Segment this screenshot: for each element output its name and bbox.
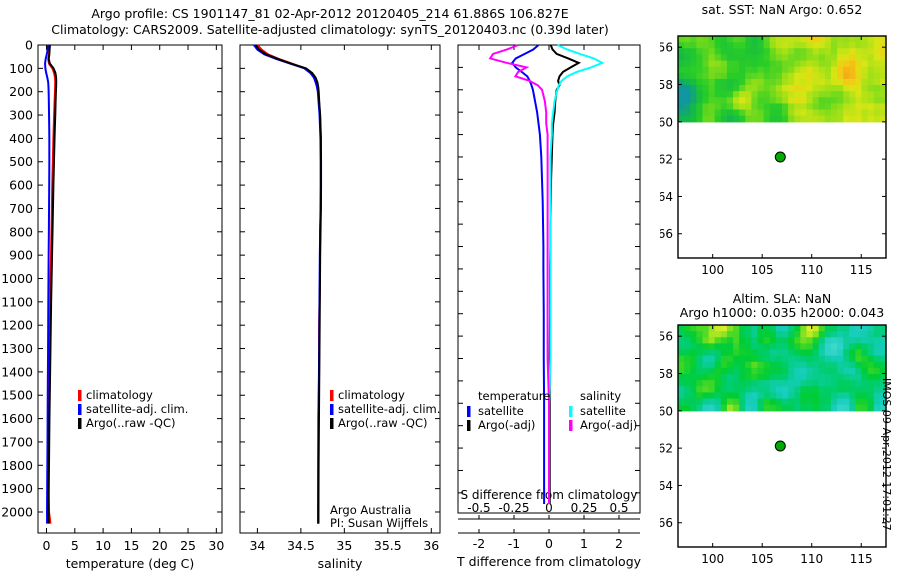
heatmap-cell <box>715 103 722 110</box>
heatmap-cell <box>868 399 875 406</box>
heatmap-cell <box>709 48 716 55</box>
heatmap-cell <box>800 36 807 43</box>
heatmap-cell <box>751 61 758 68</box>
heatmap-cell <box>849 36 856 43</box>
heatmap-cell <box>782 325 789 332</box>
heatmap-cell <box>837 91 844 98</box>
heatmap-cell <box>819 399 826 406</box>
heatmap-cell <box>758 61 765 68</box>
heatmap-cell <box>733 36 740 43</box>
heatmap-cell <box>678 91 685 98</box>
heatmap-cell <box>794 91 801 98</box>
heatmap-cell <box>696 399 703 406</box>
heatmap-cell <box>715 110 722 117</box>
heatmap-cell <box>690 85 697 92</box>
heatmap-cell <box>800 368 807 375</box>
heatmap-cell <box>709 386 716 393</box>
heatmap-cell <box>715 374 722 381</box>
heatmap-cell <box>733 103 740 110</box>
heatmap-cell <box>727 36 734 43</box>
heatmap-cell <box>831 73 838 80</box>
heatmap-cell <box>776 116 783 123</box>
heatmap-cell <box>788 73 795 80</box>
heatmap-cell <box>776 380 783 387</box>
t-tick-label: -1 <box>508 536 520 551</box>
heatmap-cell <box>800 343 807 350</box>
heatmap-cell <box>739 61 746 68</box>
heatmap-cell <box>837 392 844 399</box>
heatmap-cell <box>868 110 875 117</box>
heatmap-cell <box>751 343 758 350</box>
heatmap-cell <box>715 325 722 332</box>
heatmap-cell <box>776 54 783 61</box>
y-tick-label: 100 <box>9 61 33 76</box>
heatmap-cell <box>727 91 734 98</box>
heatmap-cell <box>721 67 728 74</box>
heatmap-cell <box>696 42 703 49</box>
heatmap-cell <box>813 91 820 98</box>
heatmap-cell <box>764 392 771 399</box>
heatmap-cell <box>849 368 856 375</box>
heatmap-cell <box>690 73 697 80</box>
heatmap-cell <box>758 380 765 387</box>
heatmap-cell <box>806 42 813 49</box>
heatmap-cell <box>758 343 765 350</box>
heatmap-cell <box>721 337 728 344</box>
heatmap-cell <box>696 380 703 387</box>
heatmap-cell <box>709 97 716 104</box>
heatmap-cell <box>800 110 807 117</box>
heatmap-cell <box>727 392 734 399</box>
heatmap-cell <box>696 110 703 117</box>
heatmap-cell <box>721 116 728 123</box>
heatmap-cell <box>739 97 746 104</box>
heatmap-cell <box>758 48 765 55</box>
heatmap-cell <box>825 48 832 55</box>
heatmap-cell <box>776 368 783 375</box>
heatmap-cell <box>855 73 862 80</box>
heatmap-cell <box>696 91 703 98</box>
heatmap-cell <box>696 61 703 68</box>
heatmap-cell <box>788 61 795 68</box>
heatmap-cell <box>862 67 869 74</box>
heatmap-cell <box>733 73 740 80</box>
heatmap-cell <box>813 103 820 110</box>
heatmap-cell <box>794 54 801 61</box>
heatmap-cell <box>843 405 850 412</box>
legend-swatch <box>330 390 334 401</box>
heatmap-cell <box>702 103 709 110</box>
heatmap-cell <box>849 54 856 61</box>
heatmap-cell <box>819 405 826 412</box>
heatmap-cell <box>745 356 752 363</box>
heatmap-cell <box>843 350 850 357</box>
heatmap-cell <box>794 350 801 357</box>
heatmap-cell <box>733 91 740 98</box>
heatmap-cell <box>690 36 697 43</box>
map-x-tick-label: 110 <box>800 552 823 566</box>
heatmap-cell <box>776 343 783 350</box>
y-tick-label: 0 <box>25 38 33 53</box>
heatmap-cell <box>696 97 703 104</box>
heatmap-cell <box>727 362 734 369</box>
heatmap-cell <box>770 110 777 117</box>
profile-location-marker <box>775 441 785 451</box>
heatmap-cell <box>745 36 752 43</box>
heatmap-cell <box>739 362 746 369</box>
heatmap-cell <box>733 392 740 399</box>
heatmap-cell <box>721 362 728 369</box>
heatmap-cell <box>794 79 801 86</box>
heatmap-cell <box>727 116 734 123</box>
heatmap-cell <box>678 386 685 393</box>
heatmap-cell <box>715 392 722 399</box>
heatmap-cell <box>843 36 850 43</box>
heatmap-cell <box>684 61 691 68</box>
heatmap-cell <box>770 399 777 406</box>
heatmap-cell <box>776 386 783 393</box>
heatmap-cell <box>831 405 838 412</box>
heatmap-cell <box>849 48 856 55</box>
heatmap-cell <box>770 91 777 98</box>
map-y-tick-label: -56 <box>660 330 673 344</box>
heatmap-cell <box>678 36 685 43</box>
y-tick-label: 400 <box>9 131 33 146</box>
heatmap-cell <box>684 356 691 363</box>
heatmap-cell <box>770 343 777 350</box>
heatmap-cells <box>678 36 887 122</box>
heatmap-cell <box>843 399 850 406</box>
heatmap-cell <box>696 374 703 381</box>
heatmap-cell <box>794 110 801 117</box>
heatmap-cell <box>806 380 813 387</box>
heatmap-cell <box>813 110 820 117</box>
map-x-tick-label: 115 <box>850 552 873 566</box>
heatmap-cell <box>855 337 862 344</box>
heatmap-cell <box>831 67 838 74</box>
heatmap-cell <box>709 103 716 110</box>
heatmap-cell <box>709 405 716 412</box>
heatmap-cell <box>764 374 771 381</box>
heatmap-cell <box>849 350 856 357</box>
heatmap-cell <box>843 368 850 375</box>
heatmap-cell <box>678 325 685 332</box>
heatmap-cell <box>739 386 746 393</box>
heatmap-cell <box>733 110 740 117</box>
heatmap-cell <box>800 116 807 123</box>
heatmap-cell <box>788 343 795 350</box>
map-x-tick-label: 100 <box>701 263 724 277</box>
heatmap-cell <box>709 54 716 61</box>
heatmap-cell <box>825 79 832 86</box>
heatmap-cell <box>709 350 716 357</box>
heatmap-cell <box>837 48 844 55</box>
heatmap-cell <box>868 97 875 104</box>
legend-label: Argo(..raw -QC) <box>338 416 428 430</box>
heatmap-cell <box>849 380 856 387</box>
heatmap-cell <box>855 405 862 412</box>
heatmap-cell <box>819 362 826 369</box>
heatmap-cell <box>794 392 801 399</box>
heatmap-cell <box>843 48 850 55</box>
heatmap-cell <box>758 79 765 86</box>
heatmap-cell <box>739 374 746 381</box>
heatmap-cell <box>709 116 716 123</box>
heatmap-cell <box>745 73 752 80</box>
heatmap-cell <box>776 350 783 357</box>
heatmap-cell <box>758 103 765 110</box>
heatmap-cell <box>745 61 752 68</box>
heatmap-cell <box>745 48 752 55</box>
heatmap-cell <box>868 356 875 363</box>
heatmap-cell <box>715 42 722 49</box>
heatmap-cell <box>715 48 722 55</box>
diff-series-1 <box>512 45 544 504</box>
heatmap-cell <box>868 103 875 110</box>
heatmap-cell <box>794 380 801 387</box>
heatmap-cell <box>849 343 856 350</box>
heatmap-cell <box>819 374 826 381</box>
heatmap-cell <box>684 331 691 338</box>
heatmap-cell <box>776 48 783 55</box>
heatmap-cell <box>794 368 801 375</box>
heatmap-cell <box>849 42 856 49</box>
heatmap-cell <box>715 337 722 344</box>
heatmap-cell <box>843 97 850 104</box>
heatmap-cell <box>837 337 844 344</box>
heatmap-cell <box>696 325 703 332</box>
heatmap-cell <box>794 67 801 74</box>
heatmap-cell <box>794 386 801 393</box>
heatmap-cell <box>739 380 746 387</box>
heatmap-cell <box>690 368 697 375</box>
heatmap-cell <box>782 356 789 363</box>
heatmap-cell <box>709 337 716 344</box>
t-tick-label: 1 <box>580 536 588 551</box>
x-tick-label: 15 <box>123 538 139 553</box>
heatmap-cell <box>819 67 826 74</box>
heatmap-cell <box>690 386 697 393</box>
y-tick-label: 1800 <box>1 458 33 473</box>
heatmap-cell <box>806 67 813 74</box>
heatmap-cell <box>806 368 813 375</box>
heatmap-cell <box>837 42 844 49</box>
heatmap-cell <box>849 392 856 399</box>
heatmap-cell <box>739 85 746 92</box>
map-x-tick-label: 115 <box>850 263 873 277</box>
heatmap-cell <box>813 42 820 49</box>
heatmap-cell <box>721 110 728 117</box>
heatmap-cell <box>874 73 881 80</box>
heatmap-cell <box>745 79 752 86</box>
heatmap-cell <box>855 42 862 49</box>
heatmap-cell <box>831 392 838 399</box>
heatmap-cell <box>702 91 709 98</box>
s-tick-label: 0.5 <box>609 501 628 515</box>
heatmap-cell <box>696 116 703 123</box>
series-line-3 <box>256 45 321 524</box>
heatmap-cell <box>831 374 838 381</box>
credit-line-2: PI: Susan Wijffels <box>330 516 428 530</box>
heatmap-cell <box>702 356 709 363</box>
heatmap-cell <box>758 356 765 363</box>
heatmap-cell <box>788 67 795 74</box>
heatmap-cell <box>800 48 807 55</box>
heatmap-cell <box>709 36 716 43</box>
heatmap-cell <box>849 399 856 406</box>
heatmap-cell <box>727 380 734 387</box>
heatmap-cell <box>739 42 746 49</box>
heatmap-cell <box>751 73 758 80</box>
heatmap-cell <box>782 110 789 117</box>
heatmap-cell <box>678 73 685 80</box>
heatmap-cell <box>843 337 850 344</box>
heatmap-cell <box>690 103 697 110</box>
heatmap-cell <box>825 36 832 43</box>
heatmap-cell <box>831 103 838 110</box>
heatmap-cell <box>715 362 722 369</box>
heatmap-cell <box>709 110 716 117</box>
heatmap-cell <box>806 337 813 344</box>
heatmap-cell <box>874 85 881 92</box>
heatmap-cell <box>843 362 850 369</box>
heatmap-cell <box>715 380 722 387</box>
heatmap-cell <box>702 48 709 55</box>
heatmap-cell <box>862 42 869 49</box>
x-tick-label: 36 <box>423 538 439 553</box>
heatmap-cell <box>813 325 820 332</box>
heatmap-cell <box>782 350 789 357</box>
heatmap-cell <box>868 79 875 86</box>
heatmap-cell <box>727 54 734 61</box>
heatmap-cell <box>843 116 850 123</box>
heatmap-cell <box>862 362 869 369</box>
heatmap-cell <box>678 67 685 74</box>
map-x-tick-label: 105 <box>751 263 774 277</box>
heatmap-cell <box>739 103 746 110</box>
heatmap-cell <box>849 116 856 123</box>
heatmap-cell <box>709 380 716 387</box>
heatmap-cell <box>758 386 765 393</box>
salinity-frame <box>240 45 440 533</box>
heatmap-cell <box>831 54 838 61</box>
heatmap-cell <box>825 85 832 92</box>
heatmap-cell <box>709 325 716 332</box>
heatmap-cell <box>837 374 844 381</box>
heatmap-cell <box>696 48 703 55</box>
heatmap-cell <box>831 97 838 104</box>
heatmap-cell <box>782 337 789 344</box>
heatmap-cell <box>690 331 697 338</box>
heatmap-cell <box>794 325 801 332</box>
y-tick-label: 500 <box>9 154 33 169</box>
heatmap-cell <box>825 97 832 104</box>
heatmap-cell <box>855 110 862 117</box>
heatmap-cell <box>776 392 783 399</box>
heatmap-cell <box>702 67 709 74</box>
heatmap-cell <box>751 356 758 363</box>
map-y-tick-label: -60 <box>660 404 673 418</box>
heatmap-cell <box>764 54 771 61</box>
legend-header-temperature: temperature <box>478 389 550 403</box>
heatmap-cell <box>825 362 832 369</box>
heatmap-cell <box>843 331 850 338</box>
heatmap-cell <box>690 392 697 399</box>
heatmap-cell <box>751 48 758 55</box>
heatmap-cell <box>874 337 881 344</box>
heatmap-cell <box>733 79 740 86</box>
heatmap-cell <box>868 116 875 123</box>
heatmap-cell <box>745 392 752 399</box>
heatmap-cell <box>806 405 813 412</box>
heatmap-cell <box>764 97 771 104</box>
heatmap-cell <box>831 380 838 387</box>
heatmap-cell <box>733 61 740 68</box>
heatmap-cell <box>862 380 869 387</box>
heatmap-cell <box>855 67 862 74</box>
x-tick-label: 20 <box>152 538 168 553</box>
heatmap-cell <box>751 405 758 412</box>
heatmap-cell <box>788 362 795 369</box>
heatmap-cell <box>825 356 832 363</box>
heatmap-cell <box>770 368 777 375</box>
heatmap-cell <box>702 374 709 381</box>
heatmap-cell <box>788 374 795 381</box>
heatmap-cell <box>776 337 783 344</box>
heatmap-cell <box>788 110 795 117</box>
y-tick-label: 1100 <box>1 294 33 309</box>
heatmap-cell <box>733 405 740 412</box>
legend-label: Argo(-adj) <box>580 418 637 432</box>
x-axis-label: salinity <box>318 556 363 571</box>
heatmap-cell <box>758 36 765 43</box>
y-tick-label: 1000 <box>1 271 33 286</box>
heatmap-cell <box>819 54 826 61</box>
legend-swatch <box>330 404 334 415</box>
heatmap-cell <box>782 91 789 98</box>
heatmap-cell <box>837 350 844 357</box>
heatmap-cell <box>776 362 783 369</box>
map-x-tick-label: 110 <box>800 263 823 277</box>
heatmap-cell <box>745 110 752 117</box>
heatmap-cell <box>739 54 746 61</box>
heatmap-cell <box>739 392 746 399</box>
heatmap-cell <box>709 61 716 68</box>
heatmap-cell <box>745 325 752 332</box>
heatmap-cell <box>745 42 752 49</box>
legend-swatch <box>78 418 82 429</box>
heatmap-cell <box>794 374 801 381</box>
heatmap-cell <box>862 356 869 363</box>
heatmap-cell <box>819 350 826 357</box>
heatmap-cell <box>739 91 746 98</box>
heatmap-cell <box>788 405 795 412</box>
heatmap-cell <box>813 85 820 92</box>
heatmap-cell <box>758 350 765 357</box>
heatmap-cell <box>837 73 844 80</box>
heatmap-cell <box>770 374 777 381</box>
heatmap-cell <box>776 103 783 110</box>
heatmap-cell <box>843 85 850 92</box>
heatmap-cell <box>806 54 813 61</box>
heatmap-cell <box>751 42 758 49</box>
heatmap-cell <box>782 374 789 381</box>
heatmap-cell <box>702 79 709 86</box>
heatmap-cell <box>862 91 869 98</box>
heatmap-cell <box>690 61 697 68</box>
heatmap-cell <box>782 79 789 86</box>
heatmap-cell <box>678 337 685 344</box>
